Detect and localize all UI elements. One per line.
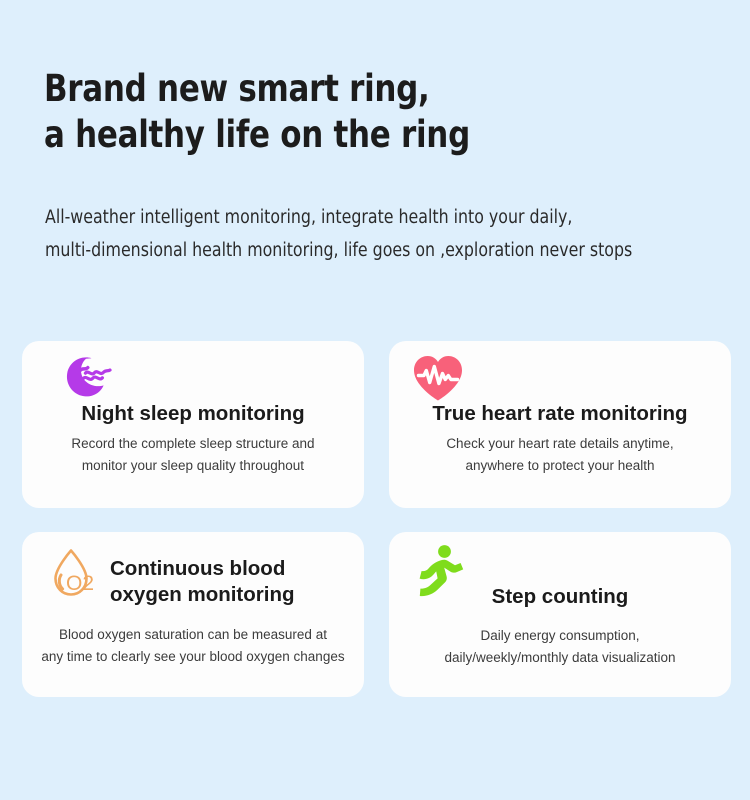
- blood-oxygen-droplet-icon: O2: [40, 544, 102, 607]
- hero-section: Brand new smart ring, a healthy life on …: [44, 66, 724, 158]
- feature-card-description: Blood oxygen saturation can be measured …: [22, 624, 364, 668]
- feature-card-description: Daily energy consumption, daily/weekly/m…: [389, 625, 731, 669]
- blood-oxygen-icon-label: O2: [66, 572, 94, 595]
- feature-card-grid: Night sleep monitoring Record the comple…: [22, 341, 731, 697]
- feature-card-title: True heart rate monitoring: [389, 401, 731, 427]
- feature-card-description: Check your heart rate details anytime, a…: [389, 433, 731, 477]
- feature-card-heart-rate[interactable]: True heart rate monitoring Check your he…: [389, 341, 731, 508]
- feature-card-description: Record the complete sleep structure and …: [22, 433, 364, 477]
- feature-card-title: Continuous blood oxygen monitoring: [110, 556, 295, 608]
- page-root: Brand new smart ring, a healthy life on …: [0, 0, 750, 800]
- page-title: Brand new smart ring, a healthy life on …: [44, 66, 676, 158]
- feature-card-night-sleep[interactable]: Night sleep monitoring Record the comple…: [22, 341, 364, 508]
- heart-pulse-icon: [411, 353, 465, 408]
- page-subtitle: All-weather intelligent monitoring, inte…: [45, 201, 632, 267]
- feature-card-step-counting[interactable]: Step counting Daily energy consumption, …: [389, 532, 731, 697]
- feature-card-title: Step counting: [389, 584, 731, 610]
- feature-card-blood-oxygen[interactable]: O2 Continuous blood oxygen monitoring Bl…: [22, 532, 364, 697]
- crescent-moon-icon: [60, 354, 116, 405]
- feature-card-title: Night sleep monitoring: [22, 401, 364, 427]
